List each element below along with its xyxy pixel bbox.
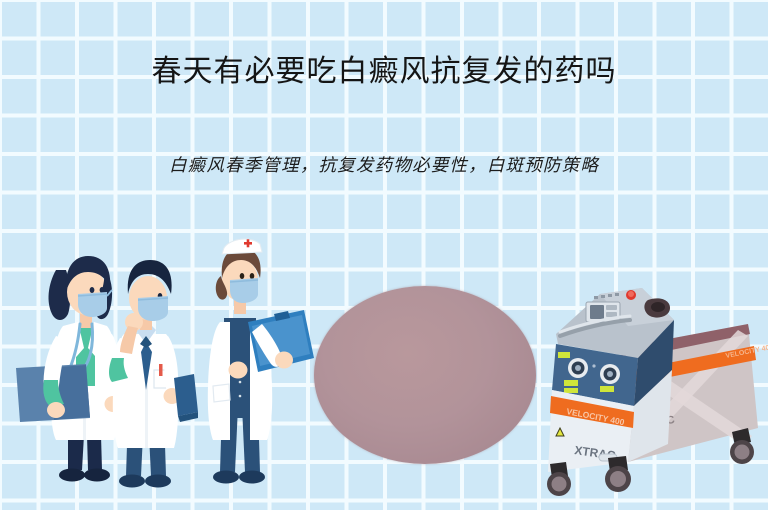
page-title: 春天有必要吃白癜风抗复发的药吗 [0,52,768,92]
medical-staff-illustration [8,218,318,510]
page-subtitle: 白癜风春季管理，抗复发药物必要性，白斑预防策略 [0,152,768,178]
poster-canvas: 春天有必要吃白癜风抗复发的药吗 白癜风春季管理，抗复发药物必要性，白斑预防策略 [0,0,768,510]
nurse-figure [208,239,314,483]
female-doctor-figure [16,256,122,482]
laser-device-illustration: VELOCITY 400 XTRAC [542,286,768,510]
skin-lesion-photo [314,286,536,464]
male-doctor-figure [109,260,198,488]
